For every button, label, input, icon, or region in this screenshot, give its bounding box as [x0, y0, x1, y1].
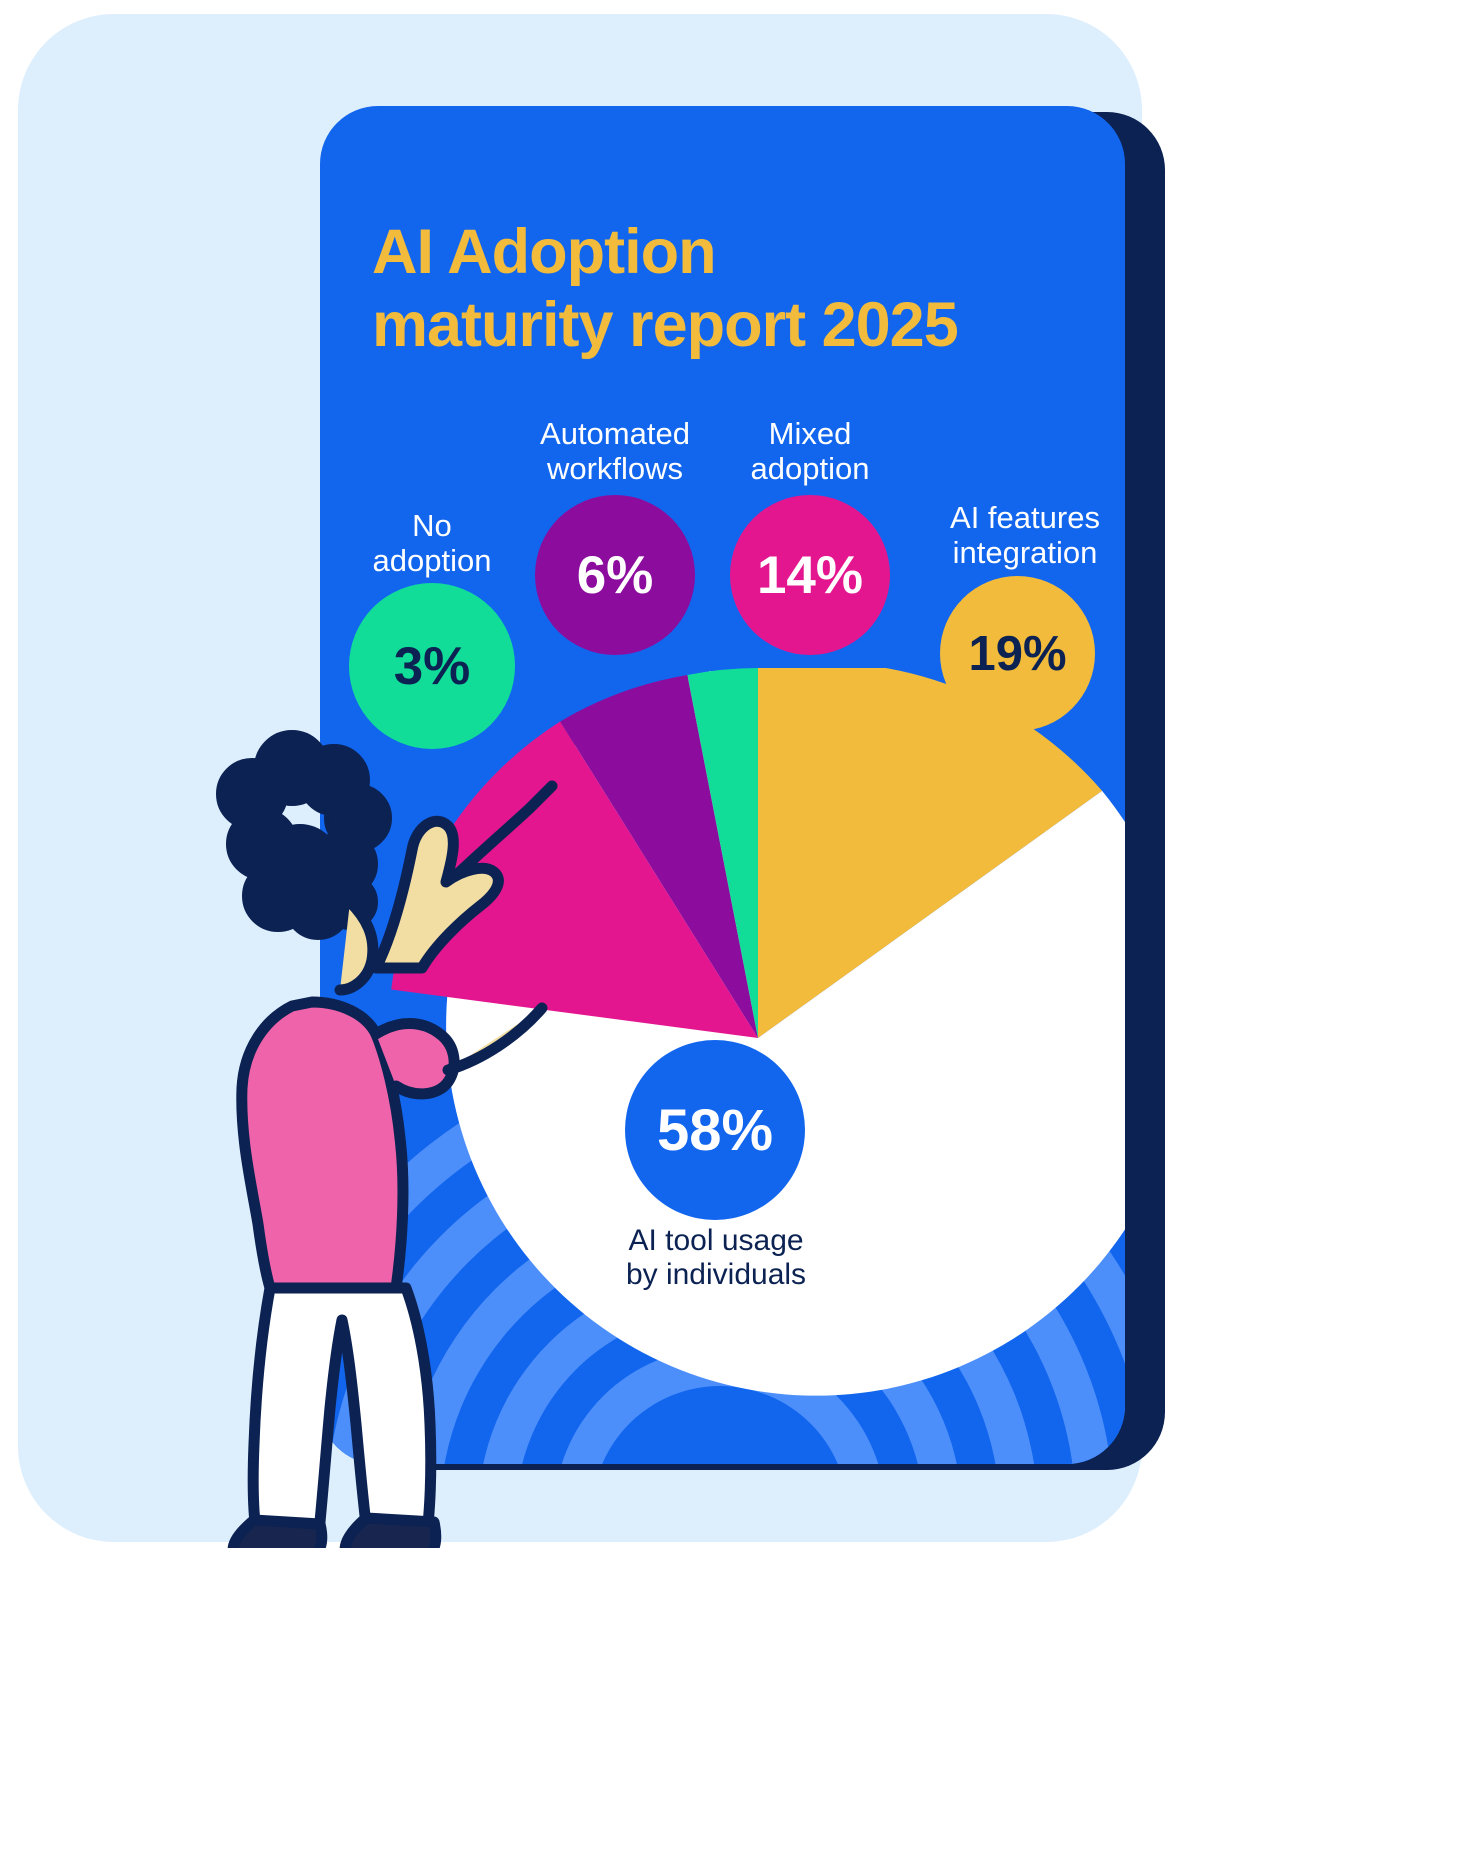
- badge-automated-workflows[interactable]: 6%: [535, 495, 695, 655]
- center-label-line-2: by individuals: [626, 1258, 806, 1291]
- badge-mixed-adoption[interactable]: 14%: [730, 495, 890, 655]
- badge-value-ai-features-integration: 19%: [968, 626, 1066, 682]
- title-line-2: maturity report 2025: [372, 289, 1102, 362]
- badge-value-mixed-adoption: 14%: [757, 545, 863, 606]
- badge-label-no-adoption-line-1: No: [412, 508, 452, 543]
- badge-label-ai-features-integration-line-1: AI features: [950, 500, 1100, 535]
- illustration-woman-reaching-up: [200, 668, 580, 1548]
- badge-label-mixed-adoption-line-1: Mixed: [769, 416, 852, 451]
- badge-label-ai-features-integration: AI features integration: [930, 501, 1120, 570]
- badge-label-mixed-adoption-line-2: adoption: [751, 451, 870, 486]
- center-value: 58%: [657, 1097, 773, 1164]
- badge-ai-features-integration[interactable]: 19%: [940, 576, 1095, 731]
- badge-value-automated-workflows: 6%: [577, 545, 654, 606]
- badge-label-no-adoption-line-2: adoption: [373, 543, 492, 578]
- center-label: AI tool usage by individuals: [590, 1224, 842, 1292]
- page-title: AI Adoption maturity report 2025: [372, 216, 1102, 362]
- infographic-root: AI Adoption maturity report 2025 5: [0, 0, 1460, 1862]
- badge-label-no-adoption: No adoption: [336, 509, 528, 578]
- center-label-line-1: AI tool usage: [628, 1224, 803, 1257]
- badge-label-automated-workflows-line-2: workflows: [547, 451, 683, 486]
- center-value-bubble: 58%: [625, 1040, 805, 1220]
- title-line-1: AI Adoption: [372, 217, 716, 287]
- badge-label-mixed-adoption: Mixed adoption: [720, 417, 900, 486]
- badge-label-ai-features-integration-line-2: integration: [953, 535, 1098, 570]
- badge-label-automated-workflows: Automated workflows: [515, 417, 715, 486]
- badge-label-automated-workflows-line-1: Automated: [540, 416, 690, 451]
